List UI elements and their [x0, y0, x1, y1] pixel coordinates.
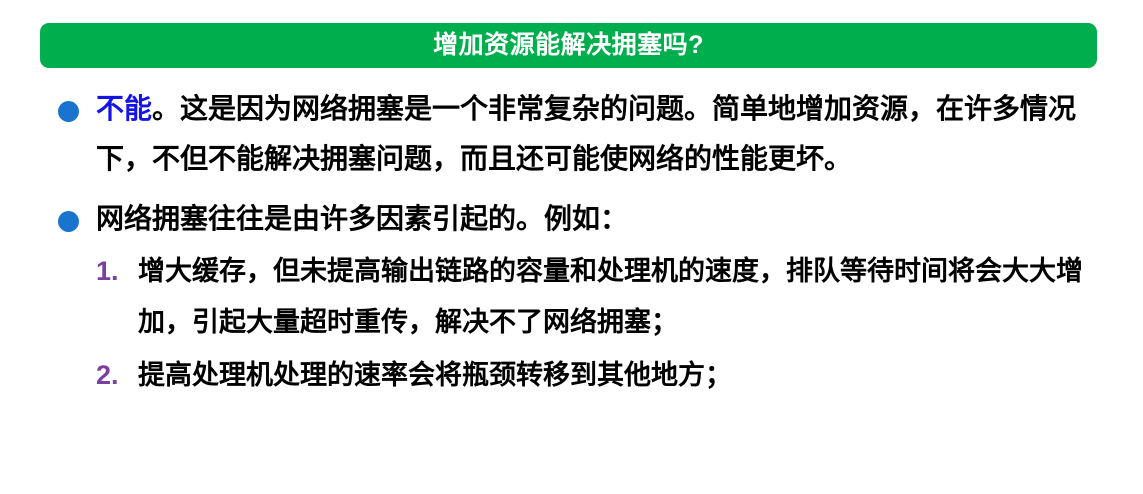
- numbered-item-1: 1. 增大缓存，但未提高输出链路的容量和处理机的速度，排队等待时间将会大大增加，…: [0, 246, 1143, 348]
- slide-root: 增加资源能解决拥塞吗? 不能。这是因为网络拥塞是一个非常复杂的问题。简单地增加资…: [0, 0, 1143, 494]
- bullet-text: 网络拥塞往往是由许多因素引起的。例如：: [96, 203, 628, 234]
- bullet-body: 网络拥塞往往是由许多因素引起的。例如：: [96, 203, 628, 234]
- page-title: 增加资源能解决拥塞吗?: [433, 33, 704, 58]
- body-spacer: [0, 184, 1143, 194]
- numbered-item-text: 提高处理机处理的速率会将瓶颈转移到其他地方；: [138, 360, 732, 390]
- list-number-marker: 2.: [96, 350, 136, 401]
- title-banner: 增加资源能解决拥塞吗?: [40, 23, 1097, 68]
- bullet-row: 网络拥塞往往是由许多因素引起的。例如：: [0, 194, 1143, 244]
- bullet-item-2: 网络拥塞往往是由许多因素引起的。例如：: [0, 194, 1143, 244]
- bullet-row: 不能。这是因为网络拥塞是一个非常复杂的问题。简单地增加资源，在许多情况下，不但不…: [0, 84, 1143, 184]
- bullet-dot-icon: [58, 211, 79, 232]
- slide-body: 不能。这是因为网络拥塞是一个非常复杂的问题。简单地增加资源，在许多情况下，不但不…: [0, 84, 1143, 401]
- bullet-emphasis: 不能: [96, 93, 152, 124]
- bullet-text: 不能。这是因为网络拥塞是一个非常复杂的问题。简单地增加资源，在许多情况下，不但不…: [96, 93, 1076, 174]
- bullet-body: 。这是因为网络拥塞是一个非常复杂的问题。简单地增加资源，在许多情况下，不但不能解…: [96, 93, 1076, 174]
- numbered-item-2: 2. 提高处理机处理的速率会将瓶颈转移到其他地方；: [0, 350, 1143, 401]
- bullet-dot-icon: [58, 101, 79, 122]
- numbered-item-text: 增大缓存，但未提高输出链路的容量和处理机的速度，排队等待时间将会大大增加，引起大…: [138, 256, 1083, 337]
- bullet-item-1: 不能。这是因为网络拥塞是一个非常复杂的问题。简单地增加资源，在许多情况下，不但不…: [0, 84, 1143, 184]
- list-number-marker: 1.: [96, 246, 136, 297]
